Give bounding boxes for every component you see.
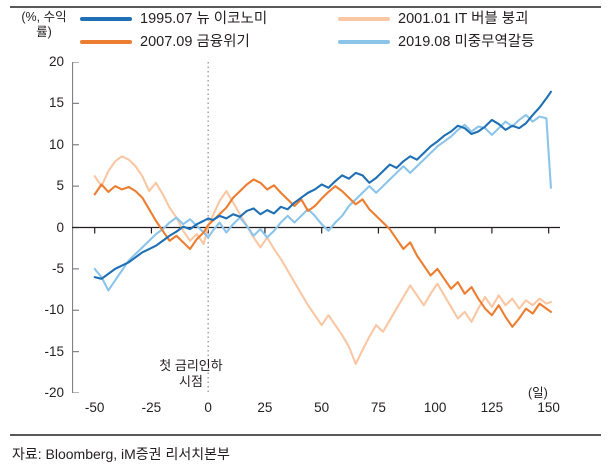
series-line <box>95 115 551 290</box>
legend-item-it-bubble: 2001.01 IT 버블 붕괴 <box>338 12 528 27</box>
bottom-divider <box>10 434 601 436</box>
chart-figure: 1995.07 뉴 이코노미 2007.09 금융위기 2001.01 IT 버… <box>0 0 611 472</box>
top-divider <box>10 6 601 8</box>
plot-area <box>72 62 560 393</box>
legend-label: 1995.07 뉴 이코노미 <box>140 12 267 27</box>
y-tick-label: 5 <box>24 179 64 193</box>
x-tick-label: -50 <box>73 401 117 415</box>
y-tick-label: -10 <box>24 303 64 317</box>
y-tick-label: 0 <box>24 221 64 235</box>
legend-item-new-economy: 1995.07 뉴 이코노미 <box>80 12 267 27</box>
y-tick-label: -20 <box>24 386 64 400</box>
legend-swatch <box>80 40 132 44</box>
x-tick-label: 75 <box>356 401 400 415</box>
legend-label: 2019.08 미중무역갈등 <box>398 35 534 50</box>
x-tick-label: 150 <box>527 401 571 415</box>
rate-cut-annotation: 첫 금리인하 시점 <box>131 358 251 390</box>
annotation-line-1: 첫 금리인하 <box>131 358 251 374</box>
legend-label: 2007.09 금융위기 <box>140 35 250 50</box>
y-tick-label: 10 <box>24 138 64 152</box>
source-note: 자료: Bloomberg, iM증권 리서치본부 <box>12 444 230 464</box>
y-tick-label: -15 <box>24 345 64 359</box>
y-tick-label: -5 <box>24 262 64 276</box>
legend-item-trade-war: 2019.08 미중무역갈등 <box>338 35 534 50</box>
x-tick-label: 25 <box>243 401 287 415</box>
legend-label: 2001.01 IT 버블 붕괴 <box>398 12 528 27</box>
annotation-line-2: 시점 <box>131 374 251 390</box>
legend-item-financial-crisis: 2007.09 금융위기 <box>80 35 250 50</box>
series-line <box>95 180 551 327</box>
x-tick-label: -25 <box>129 401 173 415</box>
y-tick-label: 15 <box>24 96 64 110</box>
legend-swatch <box>338 40 390 44</box>
legend-swatch <box>80 17 132 21</box>
series-line <box>95 156 551 364</box>
x-tick-label: 125 <box>470 401 514 415</box>
chart-canvas <box>72 62 560 393</box>
x-tick-label: 50 <box>300 401 344 415</box>
y-axis-unit-label: (%, 수익률) <box>14 10 74 40</box>
x-tick-label: 0 <box>186 401 230 415</box>
legend-swatch <box>338 17 390 21</box>
chart-legend: 1995.07 뉴 이코노미 2007.09 금융위기 2001.01 IT 버… <box>80 10 600 54</box>
y-tick-label: 20 <box>24 55 64 69</box>
x-tick-label: 100 <box>413 401 457 415</box>
series-line <box>95 92 551 279</box>
